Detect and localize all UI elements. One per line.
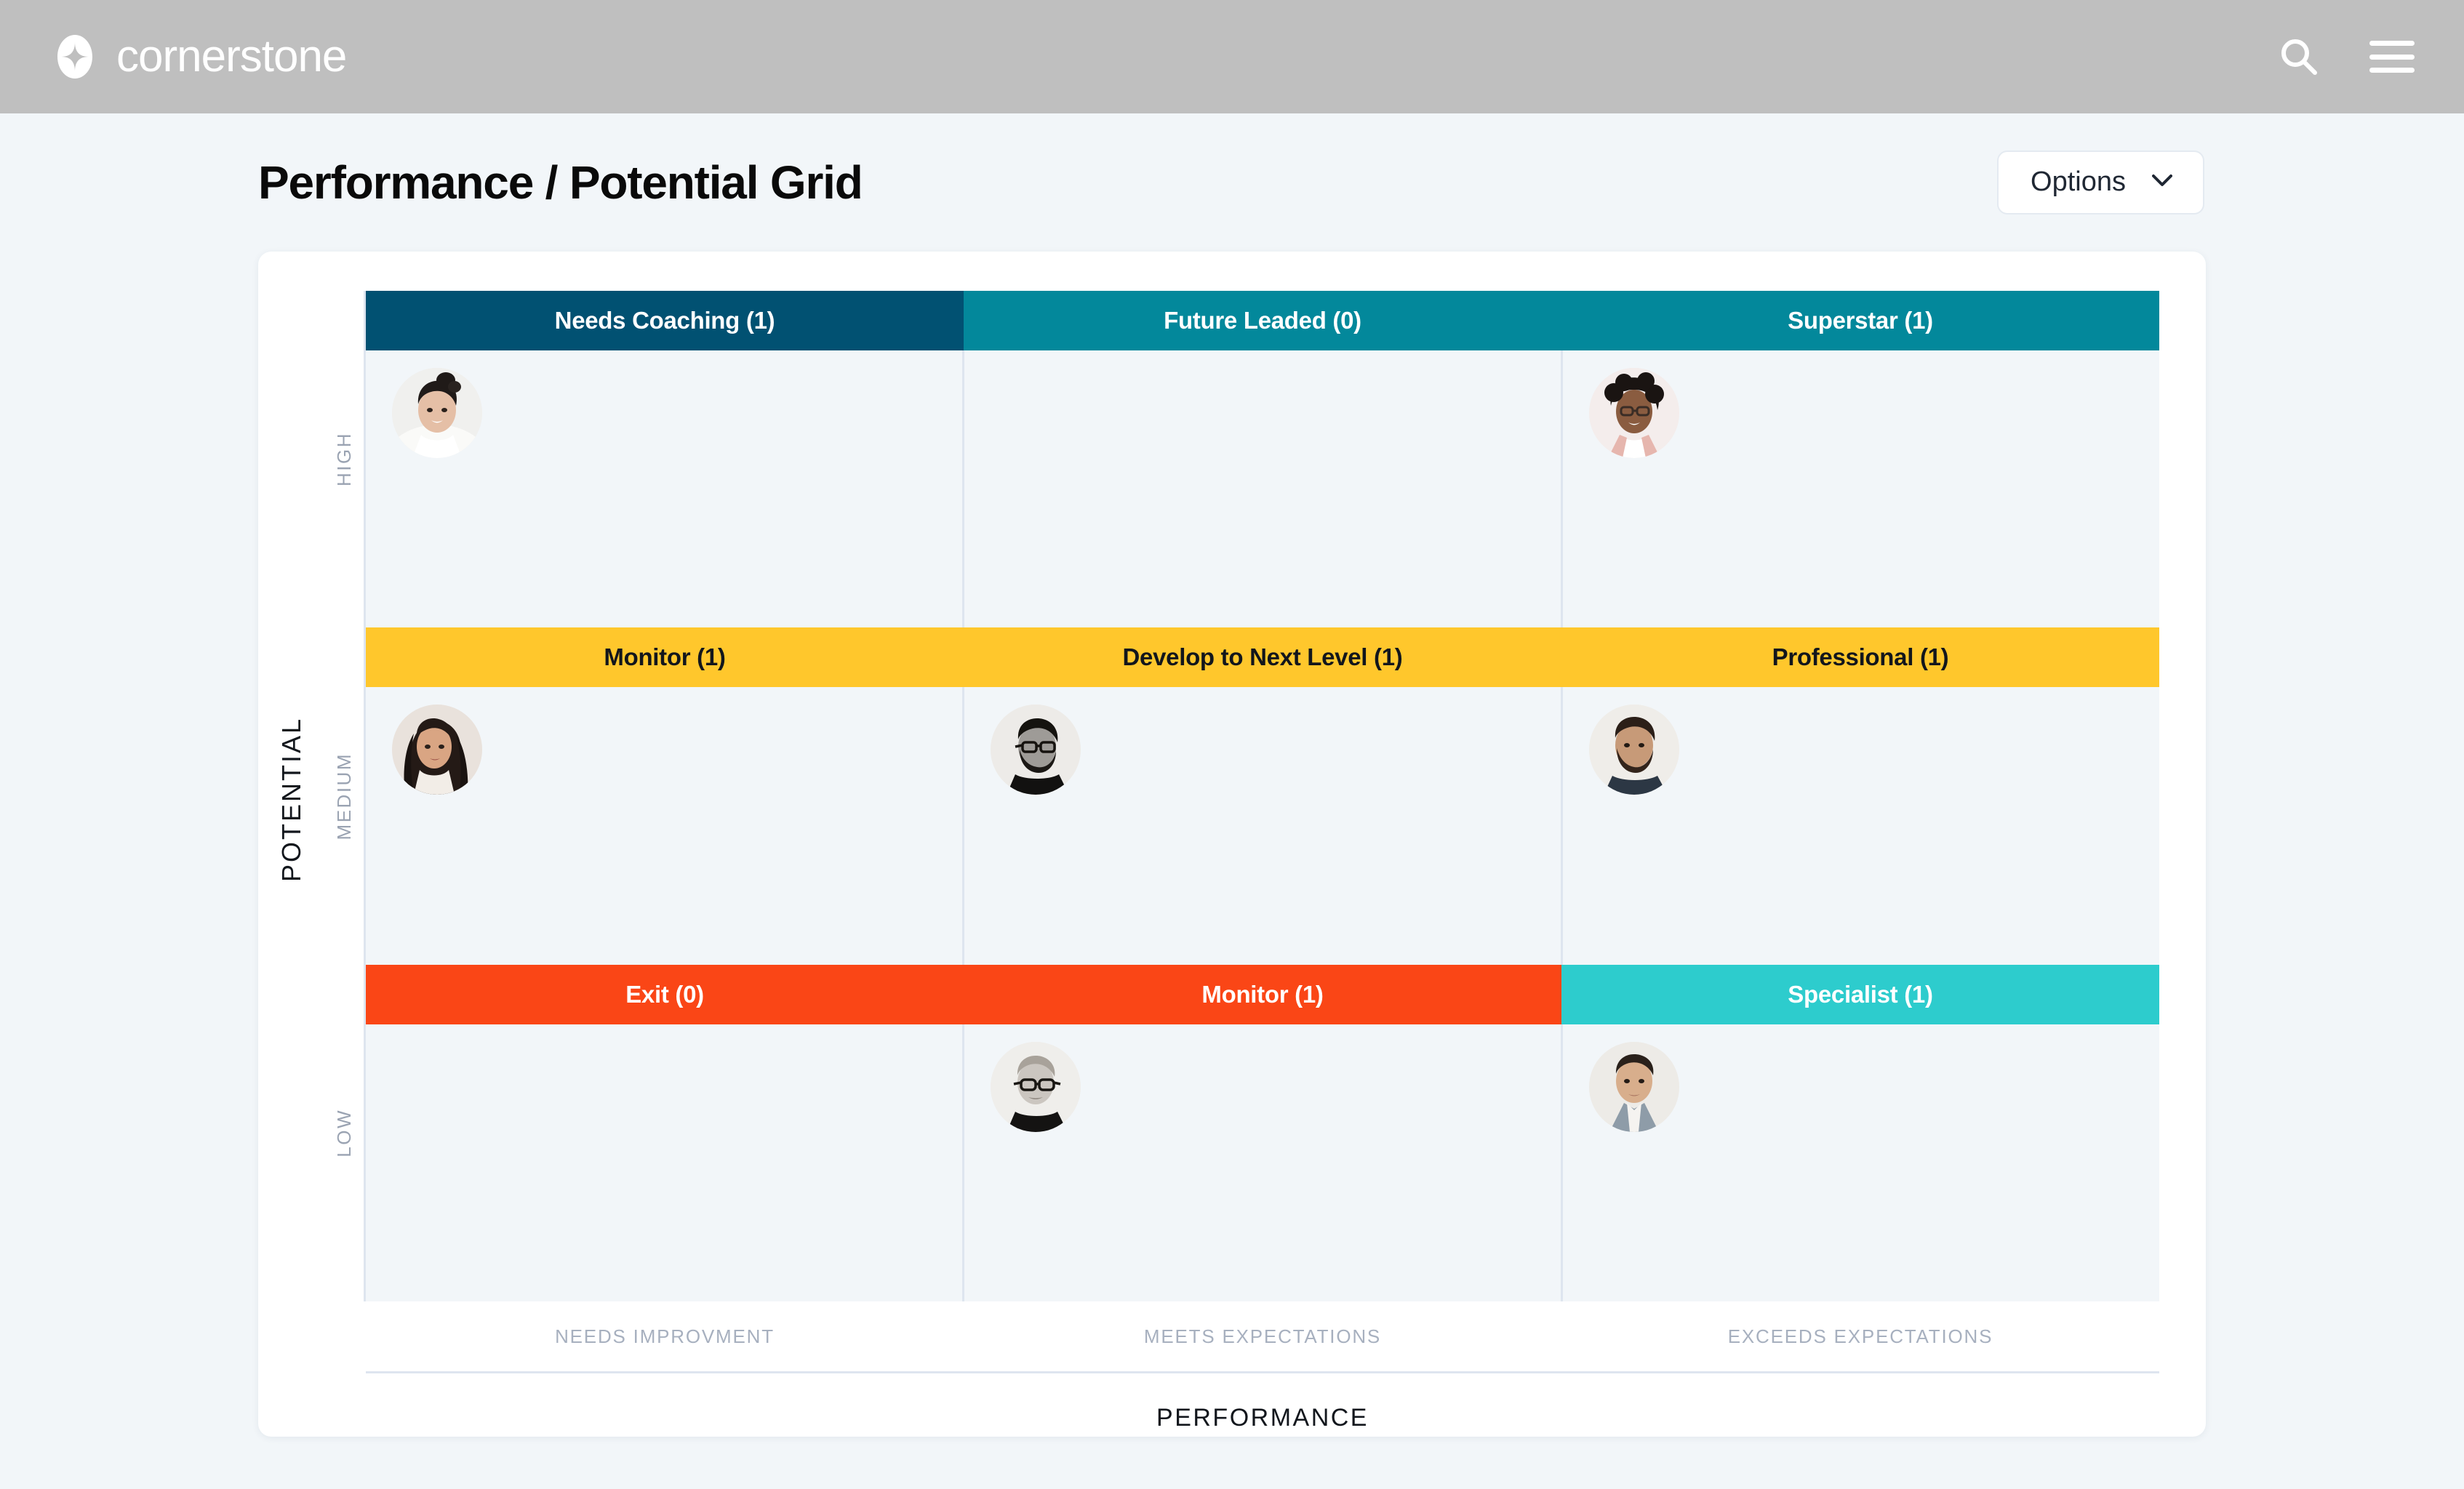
- grid-rows: Needs Coaching (1) Future Leaded (0) Sup…: [366, 291, 2159, 1301]
- grid-row-medium: Monitor (1) Develop to Next Level (1) Pr…: [366, 627, 2159, 964]
- x-axis-tick: MEETS EXPECTATIONS: [964, 1325, 1561, 1348]
- brand-name: cornerstone: [116, 34, 346, 79]
- band-segment-label: Develop to Next Level (1): [1123, 643, 1403, 671]
- band-segment-professional[interactable]: Professional (1): [1561, 627, 2159, 687]
- hamburger-bar: [2369, 55, 2415, 60]
- page-header-row: Performance / Potential Grid Options: [52, 113, 2412, 252]
- options-button-label: Options: [2031, 168, 2126, 196]
- grid-cells-high: [366, 350, 2159, 627]
- band-row-low: Exit (0) Monitor (1) Specialist (1): [366, 965, 2159, 1024]
- band-segment-label: Superstar (1): [1788, 307, 1933, 334]
- brand-logo[interactable]: cornerstone: [52, 34, 346, 79]
- grid-cell-medium-needs-improvement[interactable]: [366, 687, 962, 964]
- avatar-woman-curly-glasses[interactable]: [1589, 368, 1679, 458]
- grid-cell-medium-exceeds-expectations[interactable]: [1561, 687, 2159, 964]
- y-axis-tick: MEDIUM: [325, 627, 364, 964]
- avatar-man-glasses-bw[interactable]: [991, 1042, 1081, 1132]
- search-icon[interactable]: [2276, 34, 2321, 79]
- avatar-man-beard-dark-shirt[interactable]: [1589, 705, 1679, 795]
- hamburger-menu-icon[interactable]: [2369, 41, 2415, 73]
- band-segment-develop-to-next-level[interactable]: Develop to Next Level (1): [964, 627, 1561, 687]
- plot-area: Needs Coaching (1) Future Leaded (0) Sup…: [366, 291, 2159, 1432]
- nine-box-chart: POTENTIAL HIGH MEDIUM LOW: [258, 291, 2159, 1432]
- grid-cell-low-exceeds-expectations[interactable]: [1561, 1024, 2159, 1301]
- y-axis-title-label: POTENTIAL: [276, 717, 307, 882]
- band-segment-label: Monitor (1): [1201, 981, 1323, 1008]
- band-row-medium: Monitor (1) Develop to Next Level (1) Pr…: [366, 627, 2159, 687]
- band-segment-label: Future Leaded (0): [1164, 307, 1361, 334]
- grid-row-low: Exit (0) Monitor (1) Specialist (1): [366, 965, 2159, 1301]
- y-axis-tick-label: LOW: [333, 1109, 356, 1157]
- app-header: cornerstone: [0, 0, 2464, 113]
- grid-cell-low-needs-improvement[interactable]: [366, 1024, 962, 1301]
- hamburger-bar: [2369, 68, 2415, 73]
- y-axis-title: POTENTIAL: [258, 291, 325, 1432]
- grid-cell-medium-meets-expectations[interactable]: [962, 687, 1561, 964]
- y-axis-tick-label: HIGH: [333, 432, 356, 486]
- y-axis-tick-label: MEDIUM: [333, 752, 356, 840]
- grid-row-high: Needs Coaching (1) Future Leaded (0) Sup…: [366, 291, 2159, 627]
- header-actions: [2276, 34, 2415, 79]
- band-segment-specialist[interactable]: Specialist (1): [1561, 965, 2159, 1024]
- options-button[interactable]: Options: [1997, 150, 2204, 214]
- page-body: Performance / Potential Grid Options POT…: [0, 113, 2464, 1437]
- band-segment-exit[interactable]: Exit (0): [366, 965, 964, 1024]
- band-row-high: Needs Coaching (1) Future Leaded (0) Sup…: [366, 291, 2159, 350]
- band-segment-monitor-medium[interactable]: Monitor (1): [366, 627, 964, 687]
- avatar-woman-long-dark-hair[interactable]: [392, 705, 482, 795]
- x-axis-title: PERFORMANCE: [366, 1373, 2159, 1432]
- grid-cell-high-exceeds-expectations[interactable]: [1561, 350, 2159, 627]
- x-axis-ticks: NEEDS IMPROVMENT MEETS EXPECTATIONS EXCE…: [366, 1301, 2159, 1371]
- band-segment-superstar[interactable]: Superstar (1): [1561, 291, 2159, 350]
- y-axis-tick: HIGH: [325, 291, 364, 627]
- y-axis-ticks: HIGH MEDIUM LOW: [325, 291, 366, 1301]
- band-segment-needs-coaching[interactable]: Needs Coaching (1): [366, 291, 964, 350]
- band-segment-label: Monitor (1): [604, 643, 725, 671]
- band-segment-future-leaded[interactable]: Future Leaded (0): [964, 291, 1561, 350]
- grid-cell-high-meets-expectations[interactable]: [962, 350, 1561, 627]
- x-axis-tick: EXCEEDS EXPECTATIONS: [1561, 1325, 2159, 1348]
- cornerstone-star-logo-icon: [52, 34, 97, 79]
- hamburger-bar: [2369, 41, 2415, 46]
- grid-cells-low: [366, 1024, 2159, 1301]
- band-segment-label: Needs Coaching (1): [555, 307, 775, 334]
- band-segment-monitor-low[interactable]: Monitor (1): [964, 965, 1561, 1024]
- y-axis-tick: LOW: [325, 965, 364, 1301]
- chevron-down-icon: [2152, 174, 2172, 190]
- band-segment-label: Specialist (1): [1788, 981, 1932, 1008]
- grid-cell-low-meets-expectations[interactable]: [962, 1024, 1561, 1301]
- x-axis-tick: NEEDS IMPROVMENT: [366, 1325, 964, 1348]
- page-title: Performance / Potential Grid: [258, 156, 863, 209]
- grid-cells-medium: [366, 687, 2159, 964]
- grid-cell-high-needs-improvement[interactable]: [366, 350, 962, 627]
- nine-box-grid-card: POTENTIAL HIGH MEDIUM LOW: [258, 252, 2206, 1437]
- band-segment-label: Professional (1): [1772, 643, 1949, 671]
- avatar-man-short-hair[interactable]: [1589, 1042, 1679, 1132]
- band-segment-label: Exit (0): [625, 981, 704, 1008]
- avatar-woman-bun-smiling[interactable]: [392, 368, 482, 458]
- avatar-man-glasses-beard-bw[interactable]: [991, 705, 1081, 795]
